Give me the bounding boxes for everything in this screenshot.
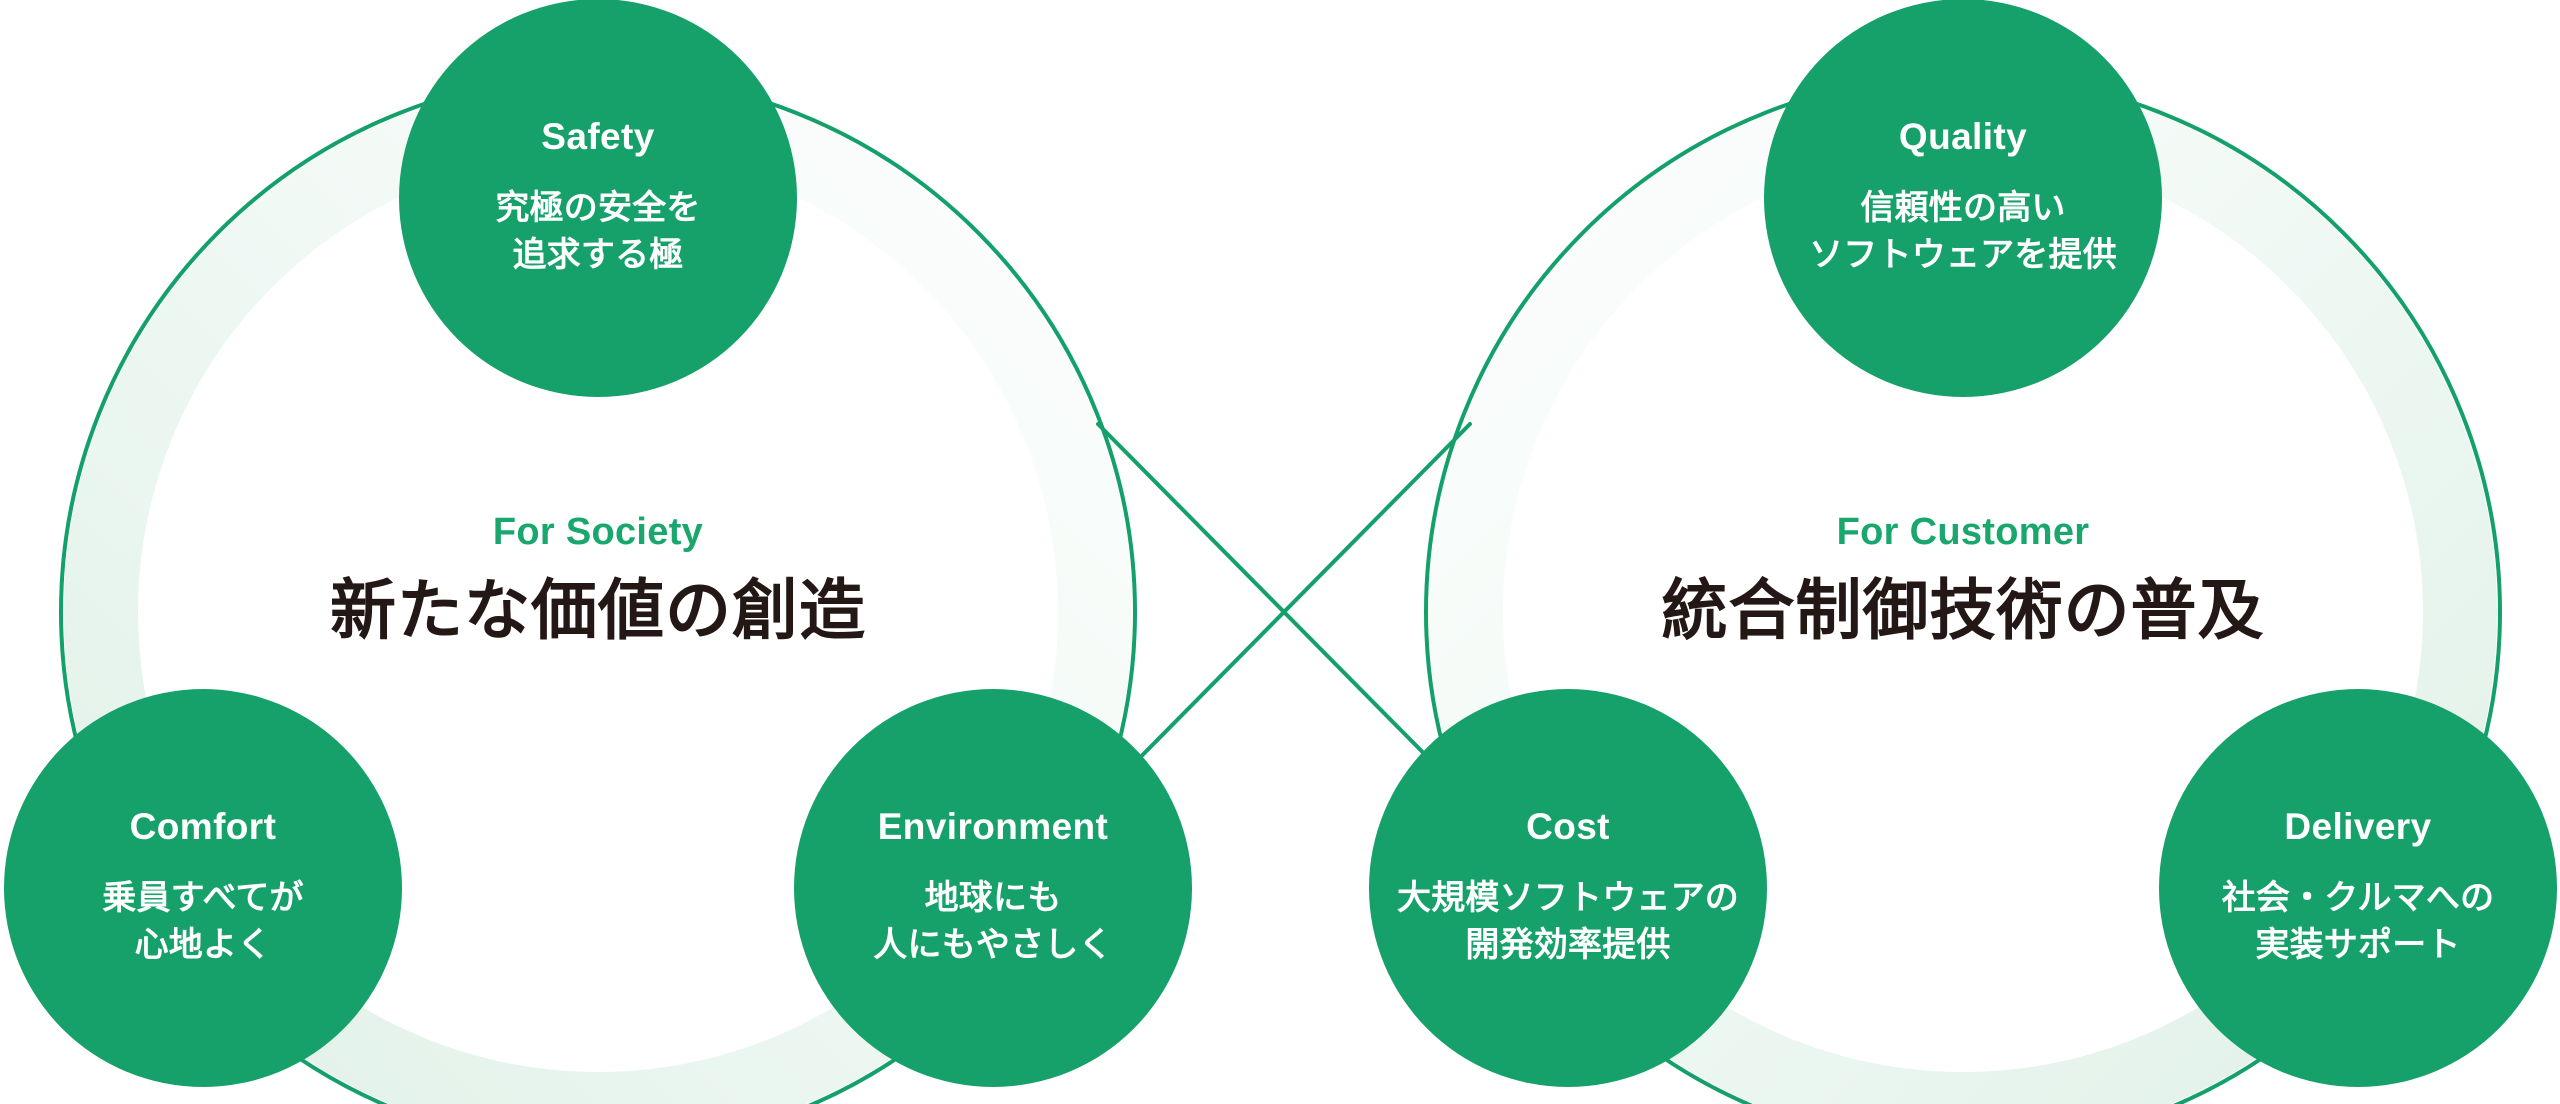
- diagram-canvas: For Society 新たな価値の創造 For Customer 統合制御技術…: [0, 0, 2560, 1104]
- cluster-title-for-society: 新たな価値の創造: [330, 577, 866, 643]
- node-cost[interactable]: Cost 大規模ソフトウェアの 開発効率提供: [1369, 689, 1767, 1087]
- node-desc-quality: 信頼性の高い ソフトウェアを提供: [1809, 185, 2117, 279]
- cluster-eyebrow-for-customer: For Customer: [1662, 513, 2265, 551]
- node-quality[interactable]: Quality 信頼性の高い ソフトウェアを提供: [1764, 0, 2162, 397]
- cluster-caption-for-customer: For Customer 統合制御技術の普及: [1662, 513, 2265, 643]
- node-desc-delivery: 社会・クルマへの 実装サポート: [2222, 875, 2495, 969]
- node-delivery[interactable]: Delivery 社会・クルマへの 実装サポート: [2159, 689, 2557, 1087]
- node-safety[interactable]: Safety 究極の安全を 追求する極: [399, 0, 797, 397]
- node-desc-cost: 大規模ソフトウェアの 開発効率提供: [1397, 875, 1739, 969]
- node-label-comfort: Comfort: [130, 808, 277, 845]
- node-label-delivery: Delivery: [2284, 808, 2431, 845]
- node-desc-safety: 究極の安全を 追求する極: [495, 185, 700, 279]
- node-desc-comfort: 乗員すべてが 心地よく: [102, 875, 303, 969]
- node-label-environment: Environment: [878, 808, 1109, 845]
- cluster-title-for-customer: 統合制御技術の普及: [1662, 577, 2265, 643]
- node-comfort[interactable]: Comfort 乗員すべてが 心地よく: [4, 689, 402, 1087]
- cluster-eyebrow-for-society: For Society: [330, 513, 866, 551]
- node-label-safety: Safety: [541, 118, 654, 155]
- node-label-cost: Cost: [1526, 808, 1610, 845]
- node-desc-environment: 地球にも 人にもやさしく: [873, 875, 1112, 969]
- cluster-caption-for-society: For Society 新たな価値の創造: [330, 513, 866, 643]
- node-environment[interactable]: Environment 地球にも 人にもやさしく: [794, 689, 1192, 1087]
- node-label-quality: Quality: [1899, 118, 2027, 155]
